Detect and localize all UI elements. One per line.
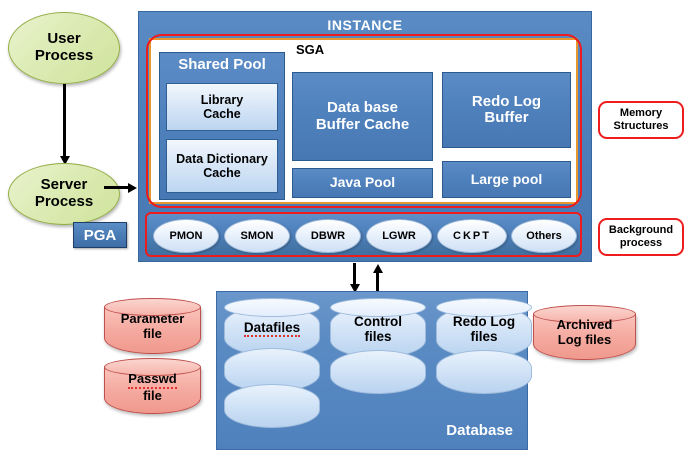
large-pool-label: Large pool xyxy=(471,172,543,187)
background-process-label: SMON xyxy=(241,230,274,242)
shared-pool-title: Shared Pool xyxy=(160,56,284,73)
user-process-label-line1: User xyxy=(35,31,93,48)
archived-log-files-cylinder: Archived Log files xyxy=(533,305,636,360)
redo-log-files-label-line1: Redo Log xyxy=(436,314,532,329)
large-pool-box: Large pool xyxy=(442,161,571,198)
background-process-smon: SMON xyxy=(224,219,290,253)
database-label: Database xyxy=(446,422,513,439)
archived-log-files-label-line2: Log files xyxy=(533,333,636,348)
memory-structures-label-line2: Structures xyxy=(613,120,668,133)
control-files-cylinder: Control files xyxy=(330,298,426,394)
parameter-file-label-line1: Parameter xyxy=(104,312,201,327)
arrow-user-to-server xyxy=(59,84,71,168)
redo-log-files-cylinder: Redo Log files xyxy=(436,298,532,394)
instance-title: INSTANCE xyxy=(139,17,591,33)
background-process-pmon: PMON xyxy=(153,219,219,253)
data-dictionary-label-line1: Data Dictionary xyxy=(176,152,268,166)
background-process-label: LGWR xyxy=(382,230,416,242)
passwd-file-cylinder: Passwd file xyxy=(104,358,201,414)
database-buffer-cache-box: Data base Buffer Cache xyxy=(292,72,433,161)
data-dictionary-cache-box: Data Dictionary Cache xyxy=(166,139,278,193)
parameter-file-label-line2: file xyxy=(104,327,201,342)
java-pool-label: Java Pool xyxy=(330,175,395,190)
background-process-lgwr: LGWR xyxy=(366,219,432,253)
server-process-label-line2: Process xyxy=(35,194,93,211)
control-files-label-line2: files xyxy=(330,329,426,344)
background-process-strip: PMON SMON DBWR LGWR CKPT Others xyxy=(145,212,582,257)
library-cache-label-line1: Library xyxy=(201,93,243,107)
library-cache-label-line2: Cache xyxy=(201,107,243,121)
background-process-label: CKPT xyxy=(453,230,491,242)
control-files-label-line1: Control xyxy=(330,314,426,329)
pga-label: PGA xyxy=(84,227,117,244)
user-process-node: User Process xyxy=(8,12,120,84)
buffer-cache-label-line2: Buffer Cache xyxy=(316,117,409,134)
library-cache-box: Library Cache xyxy=(166,83,278,131)
background-process-label: PMON xyxy=(170,230,203,242)
parameter-file-cylinder: Parameter file xyxy=(104,298,201,354)
background-process-label-line1: Background xyxy=(609,224,673,237)
background-process-label: DBWR xyxy=(311,230,345,242)
datafiles-cylinder: Datafiles xyxy=(224,298,320,428)
redo-log-buffer-label-line1: Redo Log xyxy=(472,94,541,111)
server-process-node: Server Process xyxy=(8,163,120,225)
data-dictionary-label-line2: Cache xyxy=(176,166,268,180)
memory-structures-callout: Memory Structures xyxy=(598,101,684,139)
pga-box: PGA xyxy=(73,222,127,248)
background-process-label: Others xyxy=(526,230,561,242)
passwd-file-label-line1: Passwd xyxy=(128,372,176,389)
passwd-file-label-line2: file xyxy=(104,389,201,404)
memory-structures-label-line1: Memory xyxy=(613,107,668,120)
background-process-label-line2: process xyxy=(609,237,673,250)
architecture-diagram: User Process Server Process PGA INSTANCE… xyxy=(0,0,693,462)
background-process-ckpt: CKPT xyxy=(437,219,507,253)
redo-log-buffer-box: Redo Log Buffer xyxy=(442,72,571,148)
sga-title: SGA xyxy=(296,42,324,57)
server-process-label-line1: Server xyxy=(35,177,93,194)
background-process-others: Others xyxy=(511,219,577,253)
redo-log-buffer-label-line2: Buffer xyxy=(472,110,541,127)
arrow-server-to-instance xyxy=(104,182,140,194)
redo-log-files-label-line2: files xyxy=(436,329,532,344)
background-process-callout: Background process xyxy=(598,218,684,256)
java-pool-box: Java Pool xyxy=(292,168,433,198)
user-process-label-line2: Process xyxy=(35,48,93,65)
datafiles-label: Datafiles xyxy=(244,320,300,337)
buffer-cache-label-line1: Data base xyxy=(316,100,409,117)
archived-log-files-label-line1: Archived xyxy=(533,318,636,333)
background-process-dbwr: DBWR xyxy=(295,219,361,253)
